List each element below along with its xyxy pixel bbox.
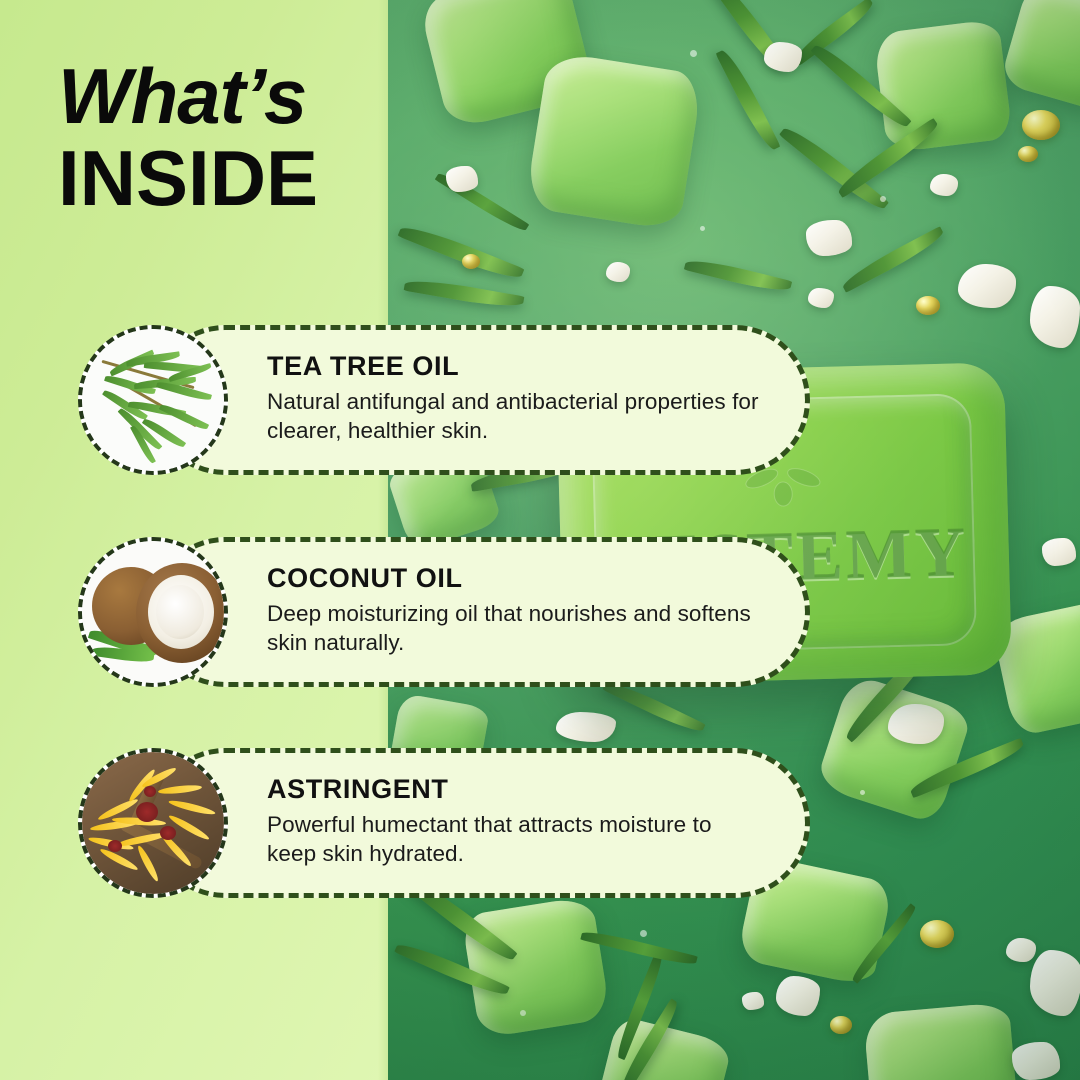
feature-title: TEA TREE OIL — [267, 352, 765, 382]
page-title: What’s INSIDE — [58, 58, 318, 217]
feature-card-tea-tree-oil[interactable]: TEA TREE OIL Natural antifungal and anti… — [150, 325, 810, 475]
feature-description: Deep moisturizing oil that nourishes and… — [267, 599, 765, 658]
infographic-canvas: NESTEMY What’s INSIDE TEA TREE OIL Natur… — [0, 0, 1080, 1080]
feature-text: COCONUT OIL Deep moisturizing oil that n… — [267, 564, 765, 657]
feature-title: COCONUT OIL — [267, 564, 765, 594]
feature-thumbnail-astringent — [78, 748, 228, 898]
feature-thumbnail-tea-tree-oil — [78, 325, 228, 475]
feature-title: ASTRINGENT — [267, 775, 765, 805]
feature-text: TEA TREE OIL Natural antifungal and anti… — [267, 352, 765, 445]
feature-card-coconut-oil[interactable]: COCONUT OIL Deep moisturizing oil that n… — [150, 537, 810, 687]
feature-card-astringent[interactable]: ASTRINGENT Powerful humectant that attra… — [150, 748, 810, 898]
feature-description: Powerful humectant that attracts moistur… — [267, 810, 765, 869]
page-title-line-1: What’s — [58, 58, 318, 134]
feature-description: Natural antifungal and antibacterial pro… — [267, 387, 765, 446]
page-title-line-2: INSIDE — [58, 140, 318, 216]
feature-thumbnail-coconut-oil — [78, 537, 228, 687]
feature-text: ASTRINGENT Powerful humectant that attra… — [267, 775, 765, 868]
